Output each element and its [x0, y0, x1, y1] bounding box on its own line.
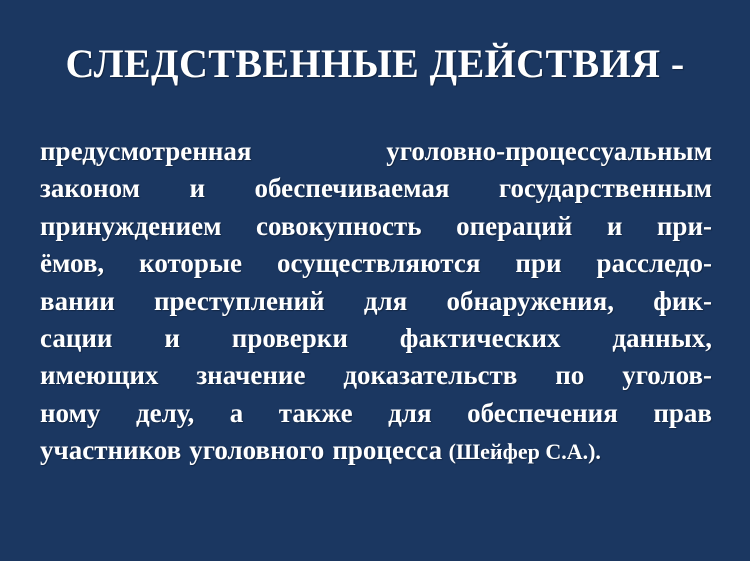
body-word: вании — [40, 283, 115, 320]
body-line: сацииипроверкифактическихданных, — [40, 320, 712, 357]
body-word: фактических — [400, 320, 561, 357]
body-word: преступлений — [154, 283, 325, 320]
body-word: проверки — [232, 320, 348, 357]
body-word: ному — [40, 395, 100, 432]
body-word: доказательств — [343, 357, 517, 394]
body-word: обеспечиваемая — [254, 170, 449, 207]
body-word: которые — [139, 245, 242, 282]
body-word: операций — [456, 208, 572, 245]
body-word: осуществляются — [277, 245, 480, 282]
body-word: процесса — [332, 432, 442, 469]
body-word: и — [189, 170, 205, 207]
body-word: значение — [196, 357, 305, 394]
page-title: СЛЕДСТВЕННЫЕ ДЕЙСТВИЯ - — [0, 40, 750, 88]
body-line: ваниипреступленийдляобнаружения,фик- — [40, 283, 712, 320]
slide-body-text: предусмотреннаяуголовно-процессуальным з… — [40, 133, 712, 470]
body-word: уголовного — [189, 432, 324, 469]
body-line: ёмов,которыеосуществляютсяприрасследо- — [40, 245, 712, 282]
body-word: для — [364, 283, 407, 320]
body-line: закономиобеспечиваемаягосударственным — [40, 170, 712, 207]
body-line: принуждениемсовокупностьоперацийипри- — [40, 208, 712, 245]
body-word: участников — [40, 432, 181, 469]
body-word: государственным — [499, 170, 712, 207]
body-word: уголов- — [622, 357, 712, 394]
body-word: прав — [653, 395, 712, 432]
body-word: и — [164, 320, 180, 357]
body-line: номуделу,атакжедляобеспеченияправ — [40, 395, 712, 432]
body-word: имеющих — [40, 357, 158, 394]
body-word: делу, — [136, 395, 194, 432]
body-word: расследо- — [597, 245, 712, 282]
body-word: данных, — [612, 320, 712, 357]
body-word: обеспечения — [467, 395, 618, 432]
body-word: ёмов, — [40, 245, 104, 282]
body-word: при — [515, 245, 561, 282]
body-word: по — [555, 357, 584, 394]
presentation-slide: СЛЕДСТВЕННЫЕ ДЕЙСТВИЯ - предусмотреннаяу… — [0, 0, 750, 561]
body-word: принуждением — [40, 208, 222, 245]
source-attribution: (Шейфер С.А.). — [449, 433, 601, 470]
body-word: обнаружения, — [446, 283, 614, 320]
body-line: предусмотреннаяуголовно-процессуальным — [40, 133, 712, 170]
body-word: сации — [40, 320, 112, 357]
body-line-with-attribution: участниковуголовногопроцесса(Шейфер С.А.… — [40, 432, 712, 469]
body-line: имеющихзначениедоказательствпоуголов- — [40, 357, 712, 394]
body-word: законом — [40, 170, 140, 207]
body-word: при- — [657, 208, 712, 245]
body-word: для — [388, 395, 431, 432]
body-word: фик- — [653, 283, 712, 320]
body-word: предусмотренная — [40, 133, 252, 170]
body-word: уголовно-процессуальным — [386, 133, 712, 170]
body-word: совокупность — [256, 208, 422, 245]
body-word: и — [607, 208, 623, 245]
body-word: а — [230, 395, 244, 432]
body-word: также — [279, 395, 353, 432]
